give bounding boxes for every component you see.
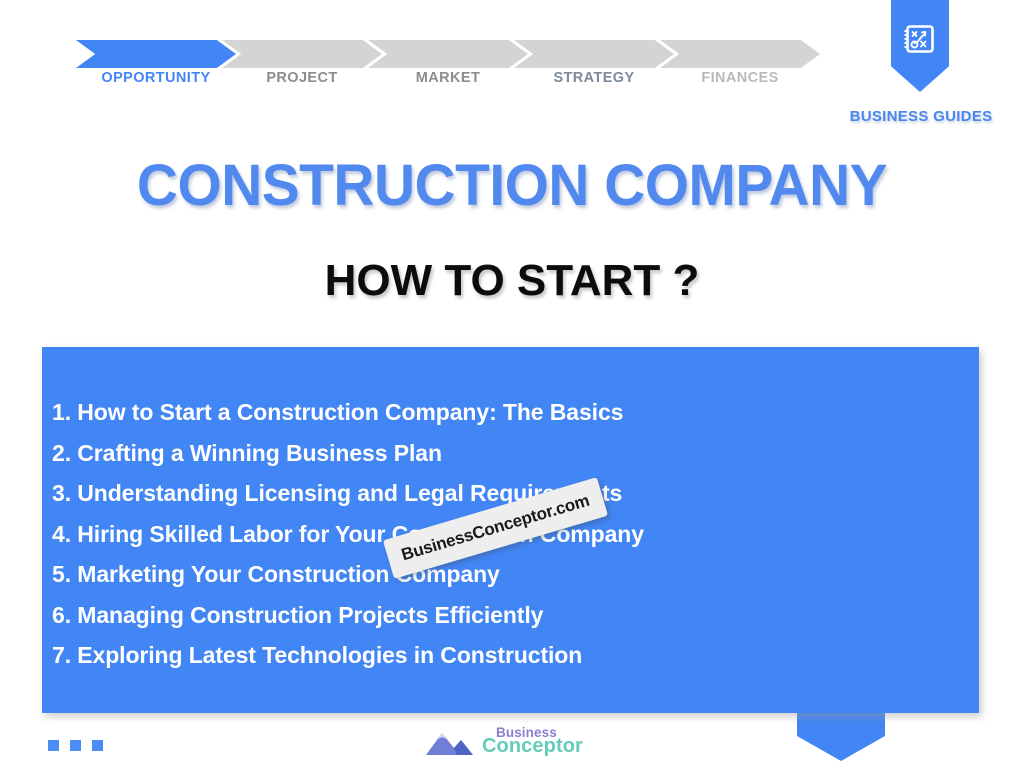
stepper-step-label: STRATEGY — [514, 70, 674, 86]
chevron-shape-icon — [368, 40, 528, 68]
footer-dot — [70, 740, 81, 751]
stepper-step-project[interactable]: PROJECT — [222, 40, 382, 68]
stepper-step-label: PROJECT — [222, 70, 382, 86]
chevron-shape-icon — [76, 40, 236, 68]
strategy-playbook-icon — [903, 22, 937, 56]
brand-name-label: BUSINESS GUIDES — [846, 108, 996, 125]
list-item[interactable]: 1. How to Start a Construction Company: … — [52, 392, 932, 433]
chevron-shape-icon — [660, 40, 820, 68]
mountain-icon — [424, 728, 486, 758]
page-title: CONSTRUCTION COMPANY — [10, 152, 1014, 219]
footer-logo-word-conceptor: Conceptor — [482, 736, 602, 756]
list-item[interactable]: 7. Exploring Latest Technologies in Cons… — [52, 635, 932, 676]
stepper-step-label: OPPORTUNITY — [76, 70, 236, 86]
stepper-step-finances[interactable]: FINANCES — [660, 40, 820, 68]
panel-ribbon-banner-icon — [797, 713, 885, 761]
stepper-step-strategy[interactable]: STRATEGY — [514, 40, 674, 68]
list-item[interactable]: 6. Managing Construction Projects Effici… — [52, 595, 932, 636]
chevron-shape-icon — [514, 40, 674, 68]
list-item[interactable]: 5. Marketing Your Construction Company — [52, 554, 932, 595]
page-subtitle: HOW TO START ? — [0, 256, 1024, 306]
stepper-step-opportunity[interactable]: OPPORTUNITY — [76, 40, 236, 68]
progress-stepper: OPPORTUNITY PROJECT MARKET STRATEGY FINA… — [76, 40, 816, 92]
footer-dot — [92, 740, 103, 751]
brand-badge: BUSINESS GUIDES — [846, 0, 996, 140]
stepper-step-label: MARKET — [368, 70, 528, 86]
stepper-step-label: FINANCES — [660, 70, 820, 86]
footer-logo-wordmark: Business Conceptor — [482, 726, 602, 762]
list-item[interactable]: 2. Crafting a Winning Business Plan — [52, 433, 932, 474]
chevron-shape-icon — [222, 40, 382, 68]
footer-dots — [48, 740, 138, 754]
stepper-step-market[interactable]: MARKET — [368, 40, 528, 68]
footer-logo: Business Conceptor — [424, 726, 600, 762]
footer-dot — [48, 740, 59, 751]
